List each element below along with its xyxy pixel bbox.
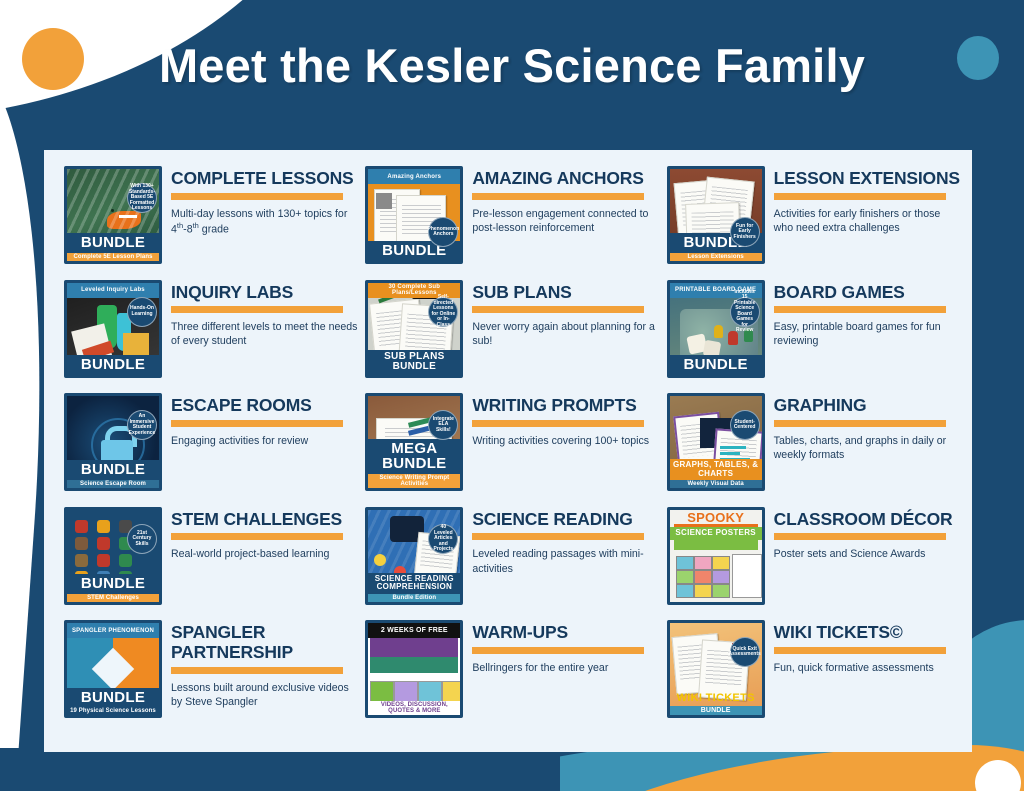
product-thumbnail[interactable]: With 130+ Standards-Based 5E Formatted L… bbox=[64, 166, 162, 264]
product-description: Activities for early finishers or those … bbox=[774, 207, 962, 236]
thumbnail-label-stack: MEGA BUNDLEScience Writing Prompt Activi… bbox=[368, 439, 460, 489]
thumbnail-badge: 40 Leveled Articles and Projects bbox=[428, 524, 458, 554]
product-card[interactable]: An Immersive Student ExperienceBUNDLESci… bbox=[64, 393, 359, 507]
product-thumbnail[interactable]: 40 Leveled Articles and ProjectsSCIENCE … bbox=[365, 507, 463, 605]
thumbnail-badge: An Immersive Student Experience bbox=[127, 410, 157, 440]
product-thumbnail[interactable]: Student-CenteredGRAPHS, TABLES, & CHARTS… bbox=[667, 393, 765, 491]
thumbnail-label-stack: SCIENCE READING COMPREHENSIONBundle Edit… bbox=[368, 573, 460, 602]
thumbnail-top-label: Leveled Inquiry Labs bbox=[67, 283, 159, 298]
product-title: SUB PLANS bbox=[472, 283, 660, 303]
thumbnail-top-label: Amazing Anchors bbox=[368, 169, 460, 184]
thumbnail-label-stack: BUNDLE bbox=[670, 355, 762, 375]
product-text: SCIENCE READINGLeveled reading passages … bbox=[472, 507, 660, 576]
product-description: Easy, printable board games for fun revi… bbox=[774, 320, 962, 349]
orange-divider bbox=[472, 306, 644, 313]
product-card[interactable]: PRINTABLE BOARD GAMEIncludes 15 Printabl… bbox=[667, 280, 962, 394]
thumbnail-label-stack: VIDEOS, DISCUSSION, QUOTES & MORE bbox=[368, 701, 460, 715]
thumbnail-badge: Fun for Early Finishers bbox=[730, 217, 760, 247]
thumbnail-bundle-label: SCIENCE POSTERS bbox=[670, 527, 762, 539]
thumbnail-label-stack: BUNDLE19 Physical Science Lessons bbox=[67, 688, 159, 716]
product-text: ESCAPE ROOMSEngaging activities for revi… bbox=[171, 393, 359, 448]
orange-divider bbox=[774, 533, 946, 540]
thumbnail-sub-label: 19 Physical Science Lessons bbox=[67, 707, 159, 715]
thumbnail-bundle-label: GRAPHS, TABLES, & CHARTS bbox=[670, 459, 762, 480]
products-panel: With 130+ Standards-Based 5E Formatted L… bbox=[44, 150, 972, 752]
product-thumbnail[interactable]: Quick Exit AssessmentsWIKI TICKETSBUNDLE bbox=[667, 620, 765, 718]
product-text: WRITING PROMPTSWriting activities coveri… bbox=[472, 393, 660, 448]
product-thumbnail[interactable]: Amazing AnchorsPhenomenon AnchorsBUNDLE bbox=[365, 166, 463, 264]
thumbnail-label-stack: BUNDLEComplete 5E Lesson Plans bbox=[67, 233, 159, 261]
thumbnail-label-stack: WIKI TICKETSBUNDLE bbox=[670, 691, 762, 716]
product-text: STEM CHALLENGESReal-world project-based … bbox=[171, 507, 359, 562]
product-title: SCIENCE READING bbox=[472, 510, 660, 530]
product-title: AMAZING ANCHORS bbox=[472, 169, 660, 189]
thumbnail-sub-label: Science Writing Prompt Activities bbox=[368, 474, 460, 488]
product-description: Engaging activities for review bbox=[171, 434, 359, 448]
product-card[interactable]: SPOOKYSCIENCE POSTERSCLASSROOM DÉCORPost… bbox=[667, 507, 962, 621]
page-title: Meet the Kesler Science Family bbox=[0, 38, 1024, 93]
thumbnail-badge: Student-Centered bbox=[730, 410, 760, 440]
thumbnail-sub-label: STEM Challenges bbox=[67, 594, 159, 602]
product-text: AMAZING ANCHORSPre-lesson engagement con… bbox=[472, 166, 660, 235]
navy-block-bottom-left bbox=[0, 748, 560, 791]
thumbnail-badge: 21st Century Skills bbox=[127, 524, 157, 554]
product-card[interactable]: Fun for Early FinishersBUNDLELesson Exte… bbox=[667, 166, 962, 280]
product-card[interactable]: 21st Century SkillsBUNDLESTEM Challenges… bbox=[64, 507, 359, 621]
thumbnail-top-label: 2 WEEKS OF FREE bbox=[368, 623, 460, 638]
product-text: WIKI TICKETS©Fun, quick formative assess… bbox=[774, 620, 962, 675]
orange-divider bbox=[472, 647, 644, 654]
product-thumbnail[interactable]: Fun for Early FinishersBUNDLELesson Exte… bbox=[667, 166, 765, 264]
product-description: Pre-lesson engagement connected to post-… bbox=[472, 207, 660, 236]
orange-divider bbox=[774, 306, 946, 313]
product-description: Writing activities covering 100+ topics bbox=[472, 434, 660, 448]
product-thumbnail[interactable]: SPOOKYSCIENCE POSTERS bbox=[667, 507, 765, 605]
thumbnail-label-stack: SUB PLANS BUNDLE bbox=[368, 350, 460, 375]
thumbnail-badge: Hands-On Learning bbox=[127, 297, 157, 327]
thumbnail-sub-label: Science Escape Room bbox=[67, 480, 159, 488]
product-description: Real-world project-based learning bbox=[171, 547, 359, 561]
thumbnail-bundle-label: SCIENCE READING COMPREHENSION bbox=[368, 573, 460, 594]
product-title: WIKI TICKETS© bbox=[774, 623, 962, 643]
product-thumbnail[interactable]: SPANGLER PHENOMENONBUNDLE19 Physical Sci… bbox=[64, 620, 162, 718]
product-card[interactable]: Quick Exit AssessmentsWIKI TICKETSBUNDLE… bbox=[667, 620, 962, 734]
thumbnail-bundle-label: BUNDLE bbox=[67, 355, 159, 375]
product-card[interactable]: SPANGLER PHENOMENONBUNDLE19 Physical Sci… bbox=[64, 620, 359, 734]
product-title: COMPLETE LESSONS bbox=[171, 169, 359, 189]
product-description: Leveled reading passages with mini-activ… bbox=[472, 547, 660, 576]
product-card[interactable]: Student-CenteredGRAPHS, TABLES, & CHARTS… bbox=[667, 393, 962, 507]
product-text: BOARD GAMESEasy, printable board games f… bbox=[774, 280, 962, 349]
orange-divider bbox=[472, 533, 644, 540]
orange-divider bbox=[472, 193, 644, 200]
product-card[interactable]: With 130+ Standards-Based 5E Formatted L… bbox=[64, 166, 359, 280]
product-card[interactable]: 30 Complete Sub Plans/LessonsSelf-direct… bbox=[365, 280, 660, 394]
thumbnail-sub-label: Bundle Edition bbox=[368, 594, 460, 602]
thumbnail-sub-label: VIDEOS, DISCUSSION, QUOTES & MORE bbox=[368, 701, 460, 715]
thumbnail-label-stack: BUNDLEScience Escape Room bbox=[67, 460, 159, 488]
thumbnail-badge: Includes 15 Printable Science Board Game… bbox=[730, 297, 760, 327]
product-text: GRAPHINGTables, charts, and graphs in da… bbox=[774, 393, 962, 462]
product-title: WARM-UPS bbox=[472, 623, 660, 643]
thumbnail-bundle-label: WIKI TICKETS bbox=[670, 691, 762, 707]
thumbnail-sub-label: Lesson Extensions bbox=[670, 253, 762, 261]
orange-divider bbox=[171, 193, 343, 200]
product-card[interactable]: Amazing AnchorsPhenomenon AnchorsBUNDLEA… bbox=[365, 166, 660, 280]
product-text: CLASSROOM DÉCORPoster sets and Science A… bbox=[774, 507, 962, 562]
product-description: Tables, charts, and graphs in daily or w… bbox=[774, 434, 962, 463]
product-title: BOARD GAMES bbox=[774, 283, 962, 303]
product-text: COMPLETE LESSONSMulti-day lessons with 1… bbox=[171, 166, 359, 237]
thumbnail-bundle-label: BUNDLE bbox=[67, 233, 159, 253]
product-description: Multi-day lessons with 130+ topics for 4… bbox=[171, 207, 359, 237]
product-thumbnail[interactable]: 2 WEEKS OF FREEVIDEOS, DISCUSSION, QUOTE… bbox=[365, 620, 463, 718]
thumbnail-top-label: SPOOKY bbox=[670, 510, 762, 525]
thumbnail-bundle-label: BUNDLE bbox=[67, 574, 159, 594]
product-card[interactable]: Leveled Inquiry LabsHands-On LearningBUN… bbox=[64, 280, 359, 394]
thumbnail-top-label: SPANGLER PHENOMENON bbox=[67, 623, 159, 638]
product-title: INQUIRY LABS bbox=[171, 283, 359, 303]
thumbnail-bundle-label: BUNDLE bbox=[67, 688, 159, 708]
thumbnail-badge: Quick Exit Assessments bbox=[730, 637, 760, 667]
thumbnail-badge: Self-directed Lessons for Online or In-C… bbox=[428, 297, 458, 327]
thumbnail-label-stack: BUNDLESTEM Challenges bbox=[67, 574, 159, 602]
thumbnail-sub-label: Weekly Visual Data bbox=[670, 480, 762, 488]
product-thumbnail[interactable]: 21st Century SkillsBUNDLESTEM Challenges bbox=[64, 507, 162, 605]
orange-divider bbox=[472, 420, 644, 427]
product-thumbnail[interactable]: PRINTABLE BOARD GAMEIncludes 15 Printabl… bbox=[667, 280, 765, 378]
product-description: Lessons built around exclusive videos by… bbox=[171, 681, 359, 710]
product-thumbnail[interactable]: An Immersive Student ExperienceBUNDLESci… bbox=[64, 393, 162, 491]
orange-divider bbox=[774, 647, 946, 654]
product-description: Fun, quick formative assessments bbox=[774, 661, 962, 675]
product-text: LESSON EXTENSIONSActivities for early fi… bbox=[774, 166, 962, 235]
product-title: STEM CHALLENGES bbox=[171, 510, 359, 530]
product-title: WRITING PROMPTS bbox=[472, 396, 660, 416]
product-title: SPANGLER PARTNERSHIP bbox=[171, 623, 359, 662]
product-description: Three different levels to meet the needs… bbox=[171, 320, 359, 349]
thumbnail-bundle-label: BUNDLE bbox=[67, 460, 159, 480]
product-title: GRAPHING bbox=[774, 396, 962, 416]
products-grid: With 130+ Standards-Based 5E Formatted L… bbox=[44, 150, 972, 752]
thumbnail-label-stack: GRAPHS, TABLES, & CHARTSWeekly Visual Da… bbox=[670, 459, 762, 488]
product-card[interactable]: 2 WEEKS OF FREEVIDEOS, DISCUSSION, QUOTE… bbox=[365, 620, 660, 734]
thumbnail-bundle-label: MEGA BUNDLE bbox=[368, 439, 460, 475]
orange-divider bbox=[171, 420, 343, 427]
thumbnail-label-stack: BUNDLE bbox=[67, 355, 159, 375]
product-text: WARM-UPSBellringers for the entire year bbox=[472, 620, 660, 675]
product-text: SUB PLANSNever worry again about plannin… bbox=[472, 280, 660, 349]
poster-canvas: Meet the Kesler Science Family With 130+… bbox=[0, 0, 1024, 791]
product-card[interactable]: Integrate ELA Skills!MEGA BUNDLEScience … bbox=[365, 393, 660, 507]
product-description: Never worry again about planning for a s… bbox=[472, 320, 660, 349]
product-card[interactable]: 40 Leveled Articles and ProjectsSCIENCE … bbox=[365, 507, 660, 621]
orange-divider bbox=[774, 420, 946, 427]
thumbnail-sub-label: BUNDLE bbox=[670, 706, 762, 715]
product-description: Bellringers for the entire year bbox=[472, 661, 660, 675]
product-text: SPANGLER PARTNERSHIPLessons built around… bbox=[171, 620, 359, 709]
product-title: CLASSROOM DÉCOR bbox=[774, 510, 962, 530]
orange-divider bbox=[171, 533, 343, 540]
thumbnail-bundle-label: BUNDLE bbox=[670, 355, 762, 375]
orange-divider bbox=[171, 667, 343, 674]
thumbnail-bundle-label: SUB PLANS BUNDLE bbox=[368, 350, 460, 375]
orange-divider bbox=[171, 306, 343, 313]
product-title: LESSON EXTENSIONS bbox=[774, 169, 962, 189]
orange-divider bbox=[774, 193, 946, 200]
product-title: ESCAPE ROOMS bbox=[171, 396, 359, 416]
thumbnail-sub-label: Complete 5E Lesson Plans bbox=[67, 253, 159, 261]
product-description: Poster sets and Science Awards bbox=[774, 547, 962, 561]
thumbnail-badge: With 130+ Standards-Based 5E Formatted L… bbox=[127, 183, 157, 213]
product-text: INQUIRY LABSThree different levels to me… bbox=[171, 280, 359, 349]
product-thumbnail[interactable]: Integrate ELA Skills!MEGA BUNDLEScience … bbox=[365, 393, 463, 491]
product-thumbnail[interactable]: Leveled Inquiry LabsHands-On LearningBUN… bbox=[64, 280, 162, 378]
product-thumbnail[interactable]: 30 Complete Sub Plans/LessonsSelf-direct… bbox=[365, 280, 463, 378]
